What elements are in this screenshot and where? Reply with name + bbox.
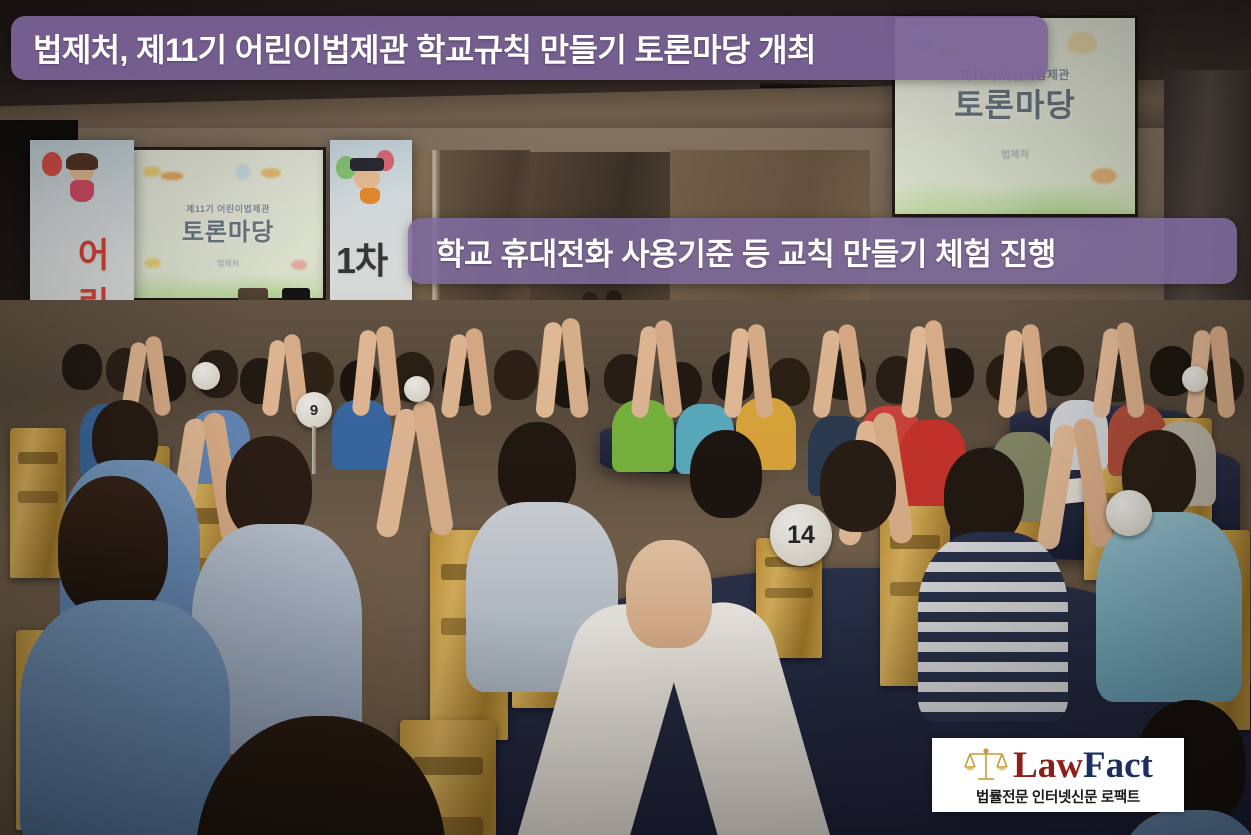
table-number-sign — [1182, 366, 1208, 392]
cartoon-child-body — [360, 188, 380, 204]
logo-word-law: Law — [1013, 745, 1083, 786]
table-number-sign: 14 — [770, 504, 832, 566]
audience-head — [690, 430, 762, 518]
screen-line2: 토론마당 — [895, 80, 1135, 126]
audience-head — [62, 344, 102, 390]
audience-head — [1040, 346, 1084, 396]
balloon-graphic — [42, 152, 62, 176]
graduation-cap-icon — [350, 158, 384, 171]
table-number-sign — [1106, 490, 1152, 536]
decor-blob — [261, 168, 281, 178]
conference-hall-photo: 제11기 어린이법제관 토론마당 법제처 제11기 어린이법제관 토론마당 법제… — [0, 0, 1251, 835]
subhead-text: 학교 휴대전화 사용기준 등 교칙 만들기 체험 진행 — [436, 229, 1056, 274]
subhead-caption-bar: 학교 휴대전화 사용기준 등 교칙 만들기 체험 진행 — [408, 218, 1237, 284]
screen-line2: 토론마당 — [133, 212, 323, 247]
audience-head — [494, 350, 538, 400]
logo-text-row: LawFact — [1013, 747, 1153, 784]
decor-blob — [143, 166, 161, 177]
lawfact-logo: LawFact 법률전문 인터넷신문 로팩트 — [932, 738, 1184, 812]
screen-emblem: 법제처 — [133, 258, 323, 269]
logo-word-fact: Fact — [1083, 745, 1153, 786]
audience-head — [58, 476, 168, 616]
cartoon-child-body — [70, 180, 94, 202]
screen-hill-graphic — [895, 159, 1135, 214]
table-sign-post — [312, 426, 316, 474]
table-number-sign: 9 — [296, 392, 332, 428]
audience-torso — [1096, 512, 1242, 702]
wall-banner-right-text: 1차 — [336, 232, 387, 284]
audience-torso-denim — [20, 600, 230, 835]
audience-torso-striped — [918, 532, 1068, 722]
table-number-sign — [192, 362, 220, 390]
cartoon-child-hair — [66, 153, 98, 170]
projector-screen-left: 제11기 어린이법제관 토론마당 법제처 — [133, 150, 323, 298]
audience-head — [820, 440, 896, 532]
logo-wordmark-row: LawFact — [963, 743, 1153, 787]
table-number-sign — [404, 376, 430, 402]
decor-blob — [161, 172, 183, 180]
headline-caption-bar: 법제처, 제11기 어린이법제관 학교규칙 만들기 토론마당 개최 — [11, 16, 1048, 80]
decor-blob — [1067, 32, 1097, 54]
screen-emblem: 법제처 — [895, 146, 1135, 161]
logo-subtitle: 법률전문 인터넷신문 로팩트 — [976, 786, 1140, 807]
clasped-hands — [626, 540, 712, 648]
decor-blob — [235, 164, 251, 180]
scales-of-justice-icon — [963, 745, 1009, 785]
news-photo-with-captions: 제11기 어린이법제관 토론마당 법제처 제11기 어린이법제관 토론마당 법제… — [0, 0, 1251, 835]
headline-text: 법제처, 제11기 어린이법제관 학교규칙 만들기 토론마당 개최 — [33, 25, 816, 71]
